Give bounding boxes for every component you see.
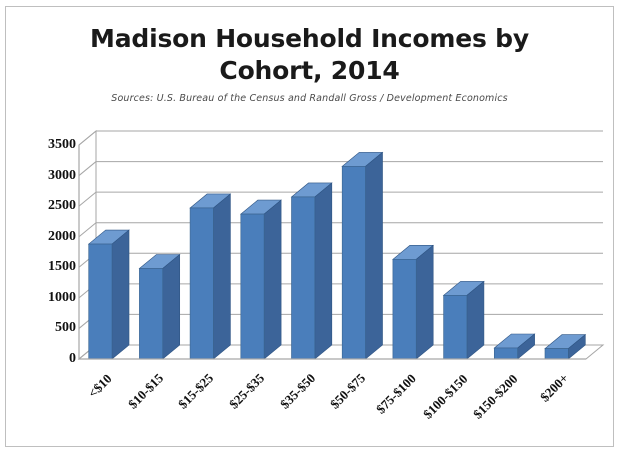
x-tick-label: $15-$25 (175, 371, 217, 413)
x-tick-label: $50-$75 (327, 371, 369, 413)
x-tick-label: $150-$200 (470, 371, 521, 422)
x-tick-label: <$10 (85, 371, 115, 401)
x-tick-label: $35-$50 (277, 371, 319, 413)
chart-frame: Madison Household Incomes by Cohort, 201… (5, 6, 614, 447)
x-tick-label: $10-$15 (125, 371, 167, 413)
x-axis: <$10$10-$15$15-$25$25-$35$35-$50$50-$75$… (6, 7, 615, 448)
x-tick-label: $75-$100 (373, 371, 420, 418)
x-tick-label: $25-$35 (226, 371, 268, 413)
x-tick-label: $200+ (537, 371, 572, 406)
x-tick-label: $100-$150 (420, 371, 471, 422)
